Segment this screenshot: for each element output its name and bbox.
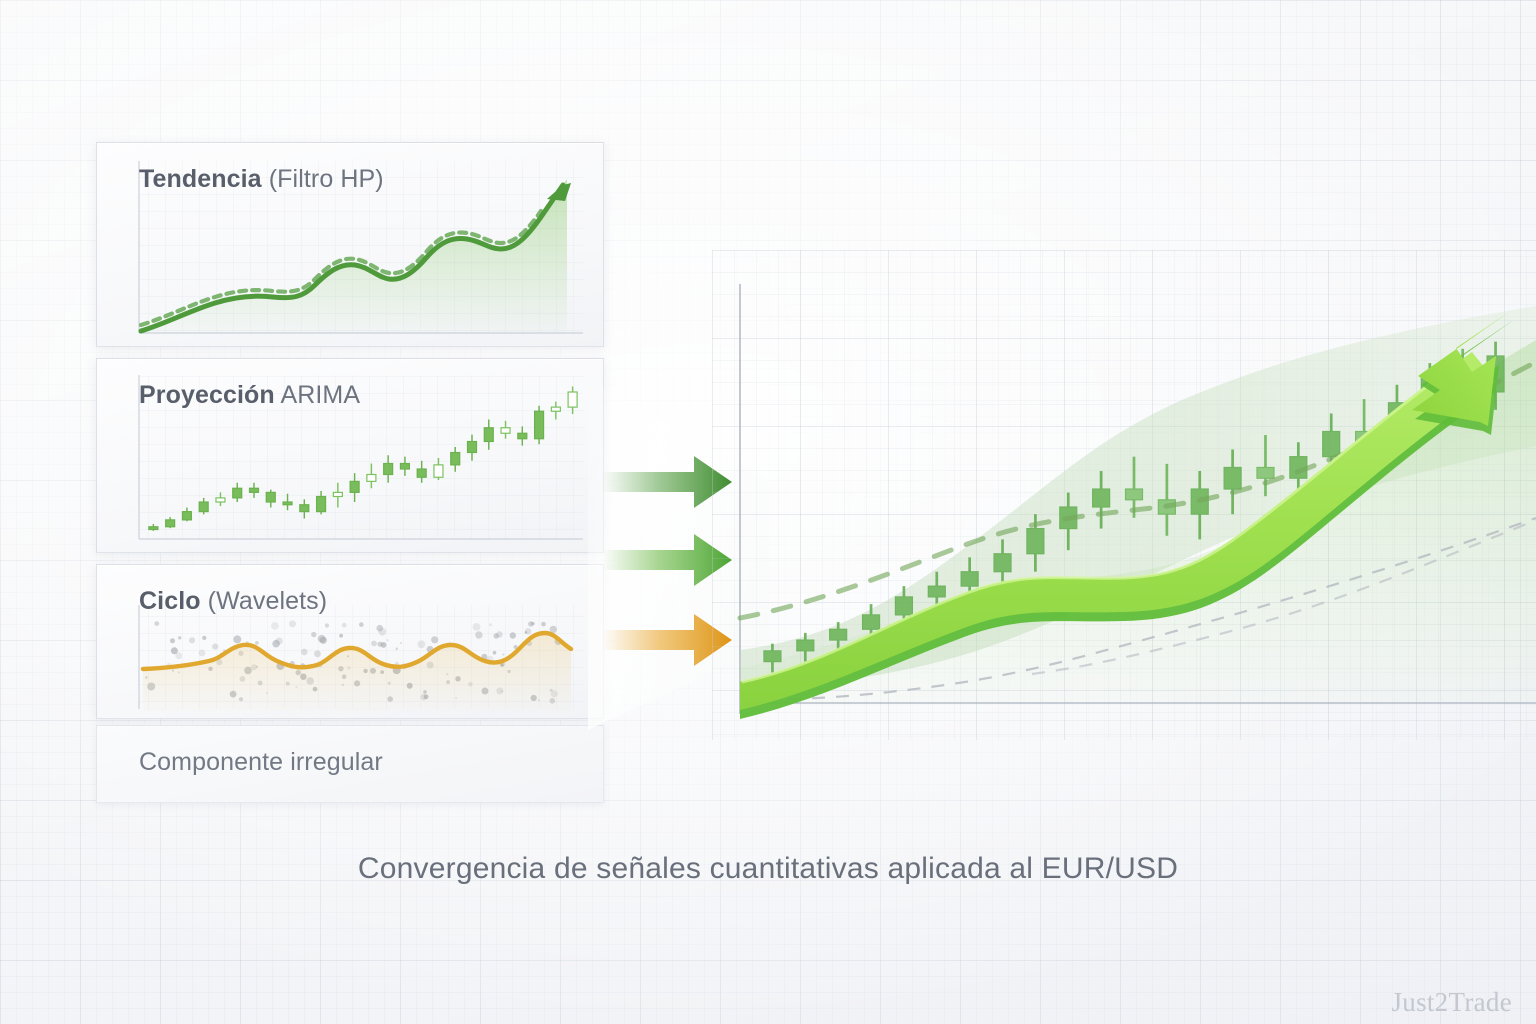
noise-dot bbox=[233, 635, 241, 643]
candle-body bbox=[468, 442, 477, 453]
noise-dot bbox=[493, 651, 497, 655]
candle-body bbox=[149, 527, 158, 530]
noise-dot bbox=[314, 650, 321, 657]
noise-dot bbox=[531, 622, 535, 626]
candle-body bbox=[863, 615, 880, 629]
candle-body bbox=[333, 492, 342, 496]
noise-dot bbox=[525, 628, 531, 634]
panel-title-arima: Proyección ARIMA bbox=[139, 381, 360, 410]
noise-dot bbox=[473, 623, 481, 631]
watermark-just2trade: Just2Trade bbox=[1391, 987, 1512, 1018]
panel-title-bold: Proyección bbox=[139, 381, 275, 409]
noise-dot bbox=[371, 641, 377, 647]
candle-body bbox=[216, 498, 225, 502]
panel-title-light: (Filtro HP) bbox=[262, 165, 384, 193]
candle-body bbox=[250, 488, 259, 492]
noise-dot bbox=[272, 640, 280, 648]
noise-dot bbox=[496, 631, 502, 637]
candle-body bbox=[233, 488, 242, 498]
noise-dot bbox=[325, 623, 329, 627]
candle-body bbox=[1126, 489, 1143, 500]
candle-body bbox=[994, 554, 1011, 572]
noise-dot bbox=[311, 632, 316, 637]
noise-dot bbox=[154, 621, 159, 626]
panel-ciclo-wavelets[interactable]: Ciclo (Wavelets) bbox=[96, 564, 604, 719]
noise-dot bbox=[418, 640, 426, 648]
candle-body bbox=[350, 481, 359, 492]
candle-body bbox=[551, 407, 560, 411]
panel-title-bold: Tendencia bbox=[139, 165, 262, 193]
candle-body bbox=[283, 502, 292, 505]
panel-title-ciclo: Ciclo (Wavelets) bbox=[139, 587, 327, 616]
candle-body bbox=[417, 469, 426, 477]
candle-body bbox=[317, 497, 326, 512]
noise-dot bbox=[378, 628, 386, 636]
panel-title-light: (Wavelets) bbox=[201, 587, 328, 615]
noise-dot bbox=[271, 622, 279, 630]
noise-dot bbox=[212, 644, 218, 650]
candle-body bbox=[484, 428, 493, 442]
candle-body bbox=[300, 505, 309, 512]
candle-body bbox=[518, 433, 527, 439]
noise-dot bbox=[255, 641, 259, 645]
candle-body bbox=[830, 629, 847, 640]
candle-body bbox=[1323, 431, 1340, 456]
panel-title-light: Componente irregular bbox=[139, 748, 383, 776]
candle-body bbox=[367, 475, 376, 482]
noise-dot bbox=[189, 637, 195, 643]
noise-dot bbox=[396, 648, 398, 650]
candle-body bbox=[384, 464, 393, 475]
panel-tendencia[interactable]: Tendencia (Filtro HP) bbox=[96, 142, 604, 347]
candle-body bbox=[535, 411, 544, 439]
candle-body bbox=[961, 572, 978, 586]
noise-dot bbox=[301, 649, 308, 656]
panel-proyeccion-arima[interactable]: Proyección ARIMA bbox=[96, 358, 604, 553]
noise-dot bbox=[510, 632, 516, 638]
candle-body bbox=[764, 651, 781, 662]
noise-dot bbox=[170, 638, 175, 643]
candle-body bbox=[1027, 529, 1044, 554]
candle-body bbox=[501, 428, 510, 434]
candle-body bbox=[1093, 489, 1110, 507]
candle-body bbox=[434, 465, 443, 477]
noise-dot bbox=[431, 636, 438, 643]
candle-body bbox=[451, 453, 460, 465]
page-caption: Convergencia de señales cuantitativas ap… bbox=[0, 852, 1536, 886]
panel-title-light: ARIMA bbox=[275, 381, 360, 409]
noise-dot bbox=[202, 636, 206, 640]
candle-body bbox=[182, 512, 191, 520]
candle-body bbox=[199, 502, 208, 512]
candle-body bbox=[797, 640, 814, 651]
candle-body bbox=[1224, 467, 1241, 489]
noise-dot bbox=[359, 622, 364, 627]
panel-componente-irregular[interactable]: Componente irregular bbox=[96, 725, 604, 803]
candle-body bbox=[266, 492, 275, 502]
candle-body bbox=[1257, 467, 1274, 478]
noise-dot bbox=[178, 636, 181, 639]
noise-dot bbox=[199, 650, 206, 657]
main-convergence-chart[interactable] bbox=[712, 250, 1536, 740]
noise-dot bbox=[489, 623, 492, 626]
noise-dot bbox=[381, 642, 387, 648]
noise-dot bbox=[386, 639, 388, 641]
noise-dot bbox=[171, 647, 178, 654]
noise-dot bbox=[289, 620, 296, 627]
noise-dot bbox=[502, 653, 504, 655]
panel-title-componente-irregular: Componente irregular bbox=[139, 748, 383, 777]
candle-body bbox=[928, 586, 945, 597]
candle-body bbox=[568, 392, 577, 407]
noise-dot bbox=[400, 642, 402, 644]
noise-dot bbox=[475, 631, 482, 638]
panel-title-bold: Ciclo bbox=[139, 587, 201, 615]
candle-body bbox=[400, 464, 409, 470]
candle-body bbox=[895, 597, 912, 615]
panel-title-tendencia: Tendencia (Filtro HP) bbox=[139, 165, 384, 194]
candle-body bbox=[166, 520, 175, 527]
signal-panel-stack: Tendencia (Filtro HP) Proyección ARIMA bbox=[96, 142, 604, 803]
noise-dot bbox=[342, 623, 347, 628]
noise-dot bbox=[541, 622, 546, 627]
noise-dot bbox=[339, 634, 343, 638]
noise-dot bbox=[320, 637, 327, 644]
